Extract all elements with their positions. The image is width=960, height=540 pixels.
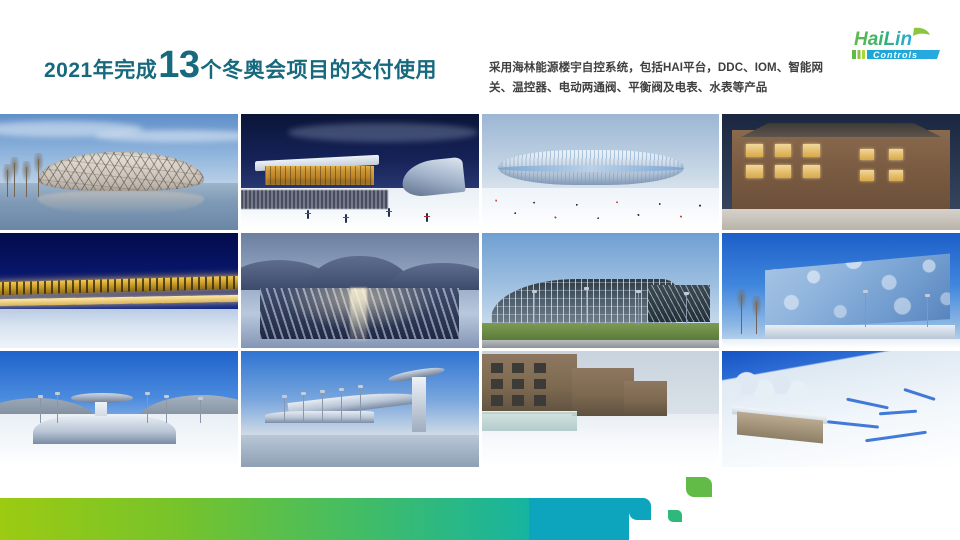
gallery-image-national-aquatics-center-water-cube[interactable]	[722, 233, 960, 349]
logo-bar-3	[862, 50, 865, 59]
logo-wordmark: HaiLin	[854, 29, 912, 50]
hailin-controls-logo: HaiLin Controls	[852, 26, 944, 64]
gallery-image-cross-country-ski-venue-dusk[interactable]	[241, 114, 479, 230]
leaf-icon	[913, 28, 930, 36]
page-title: 2021年完成13个冬奥会项目的交付使用	[44, 48, 437, 82]
gallery-image-mountain-resort-hotel[interactable]	[722, 114, 960, 230]
slide-root: 2021年完成13个冬奥会项目的交付使用 采用海林能源楼宇自控系统，包括HAI平…	[0, 0, 960, 540]
logo-tagline: Controls	[873, 50, 918, 60]
subtitle-text: 采用海林能源楼宇自控系统，包括HAI平台，DDC、IOM、智能网关、温控器、电动…	[489, 58, 841, 98]
gallery-image-aerial-village-dusk[interactable]	[241, 233, 479, 349]
gallery-image-curved-glass-hall[interactable]	[482, 233, 720, 349]
gallery-image-national-stadium-birds-nest[interactable]	[0, 114, 238, 230]
title-suffix: 个冬奥会项目的交付使用	[201, 60, 438, 81]
slide-header: 2021年完成13个冬奥会项目的交付使用 采用海林能源楼宇自控系统，包括HAI平…	[0, 0, 960, 112]
logo-bar-1	[852, 50, 856, 59]
gallery-image-snow-ruyi-ski-jump-side[interactable]	[241, 351, 479, 467]
footer-green-band	[0, 498, 529, 540]
gallery-image-national-speed-skating-oval[interactable]	[482, 114, 720, 230]
image-gallery-grid	[0, 114, 960, 467]
footer-teal-leaf-shape	[629, 498, 651, 520]
footer-decoration	[0, 465, 960, 540]
logo-icon: HaiLin Controls	[852, 26, 944, 64]
footer-green-leaf-large	[686, 477, 712, 497]
footer-teal-band	[529, 498, 629, 540]
gallery-image-illuminated-venue-night[interactable]	[0, 233, 238, 349]
gallery-image-snow-ruyi-ski-jump-front[interactable]	[0, 351, 238, 467]
title-number: 13	[157, 48, 200, 82]
footer-green-leaf-small	[668, 510, 682, 522]
title-prefix: 2021年完成	[44, 60, 157, 81]
gallery-image-olympic-village-apartments-snow[interactable]	[482, 351, 720, 467]
logo-bar-2	[858, 50, 861, 59]
gallery-image-snow-slope-venue-rime[interactable]	[722, 351, 960, 467]
